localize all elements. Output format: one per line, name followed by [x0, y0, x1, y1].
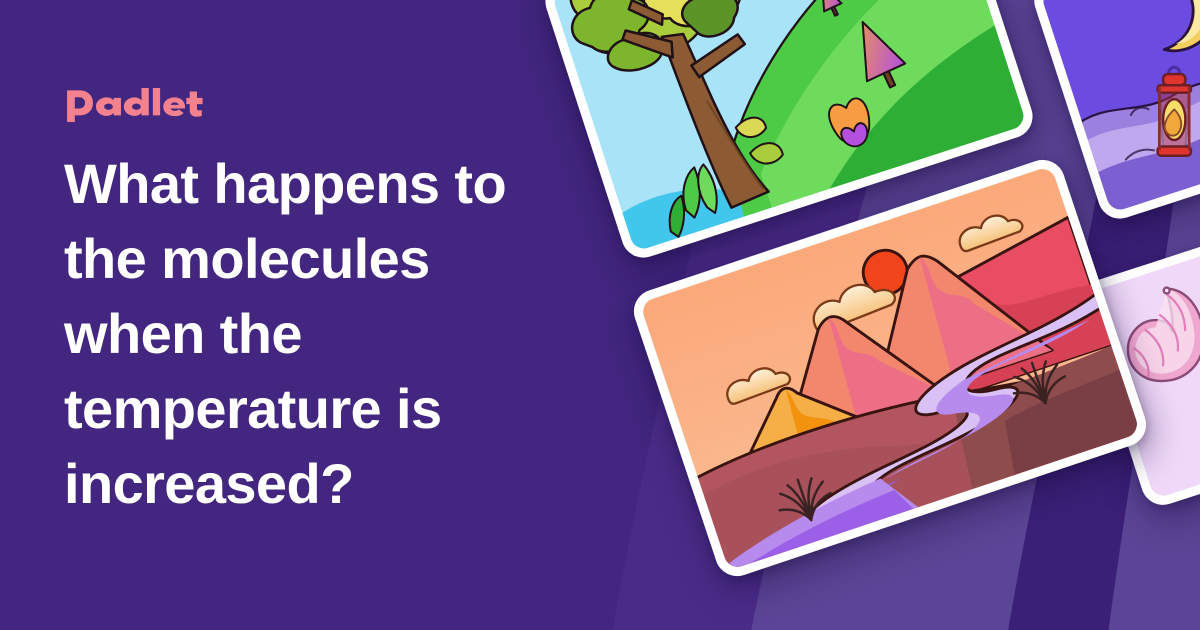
page-title: What happens to the molecules when the t… — [64, 146, 564, 521]
text-column: What happens to the molecules when the t… — [64, 88, 604, 521]
social-card-canvas: What happens to the molecules when the t… — [0, 0, 1200, 630]
padlet-wordmark-icon[interactable] — [64, 88, 604, 122]
